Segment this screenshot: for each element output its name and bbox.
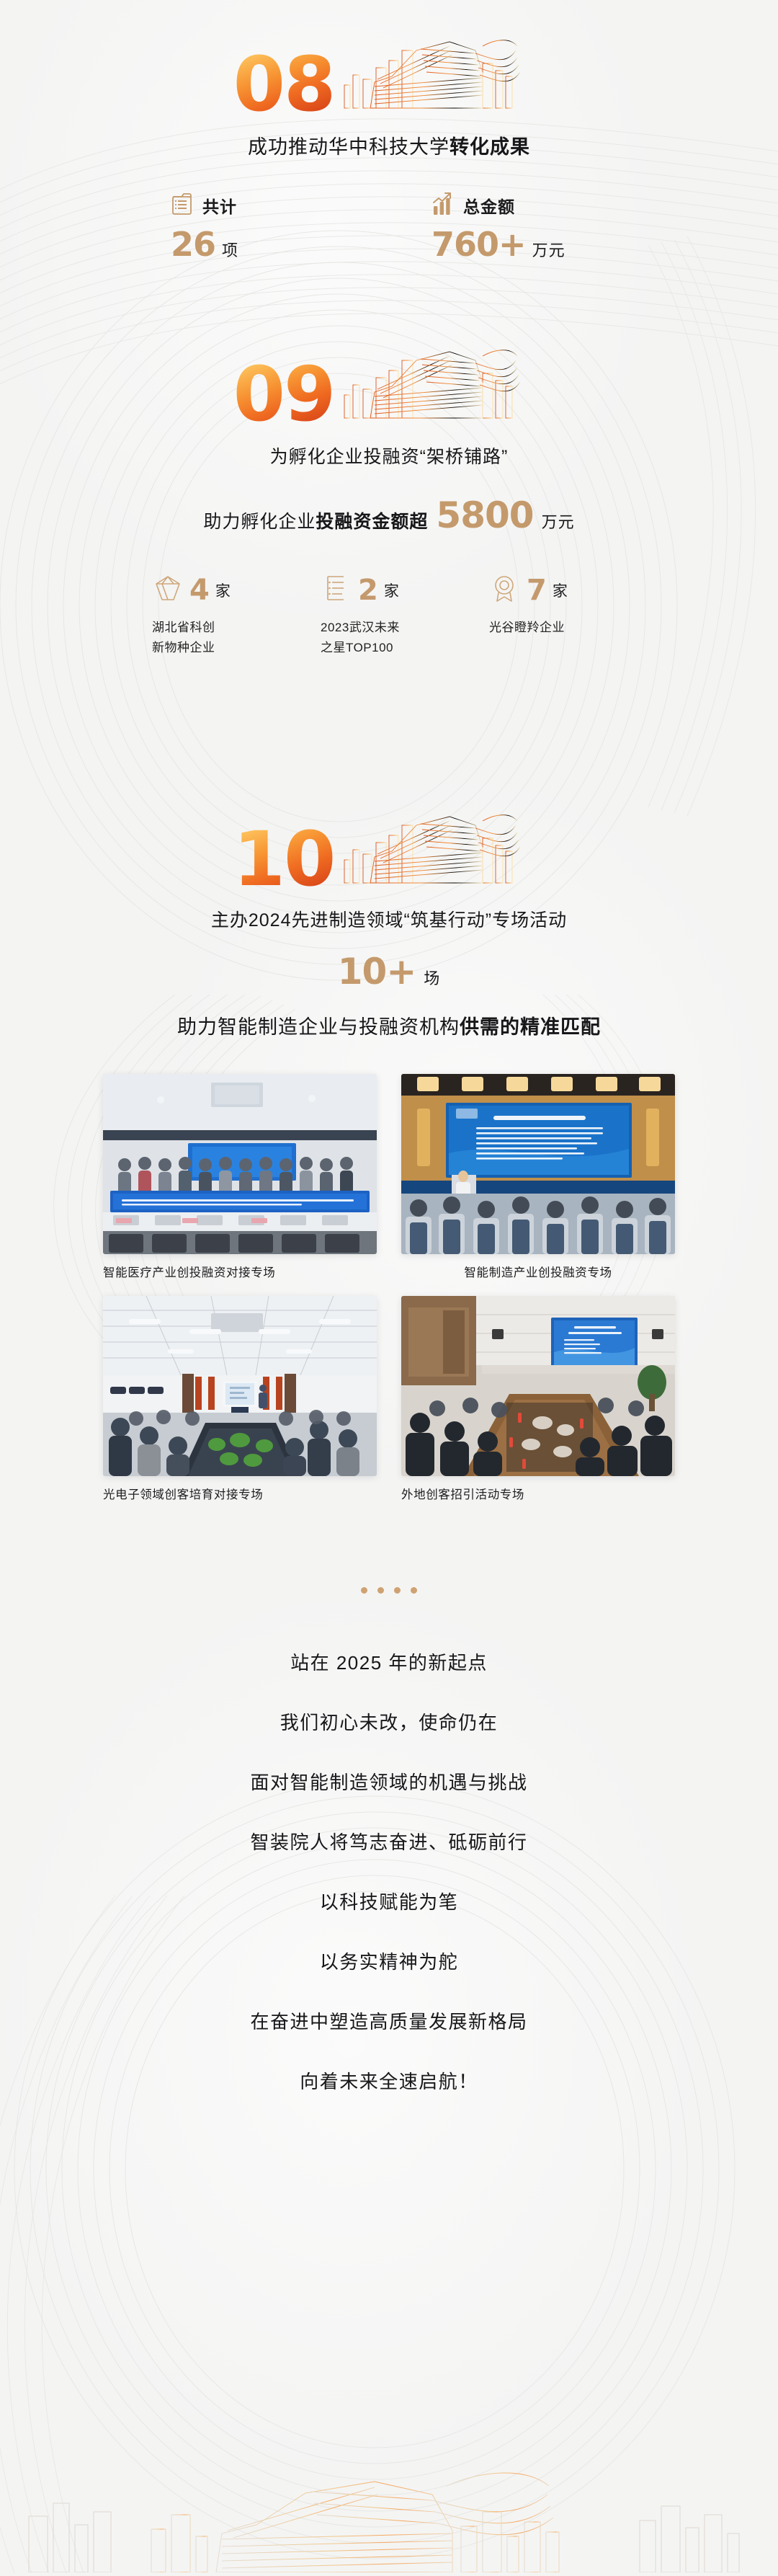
photo-caption: 外地创客招引活动专场 <box>401 1485 675 1502</box>
stat-gazelle-enterprises: 7 家 光谷瞪羚企业 <box>489 572 626 658</box>
infographic-page: 08 <box>0 0 778 2094</box>
photo-manufacturing-forum[interactable] <box>401 1074 675 1254</box>
divider-dot <box>361 1587 367 1594</box>
bar-chart-icon <box>432 191 455 220</box>
medal-icon <box>489 572 521 608</box>
stat-desc-line2: 新物种企业 <box>152 638 289 658</box>
photo-cell: 光电子领域创客培育对接专场 <box>103 1296 377 1502</box>
closing-section: 站在 2025 年的新起点 我们初心未改，使命仍在 面对智能制造领域的机遇与挑战… <box>0 1502 778 2094</box>
poem-line: 智装院人将笃志奋进、砥砺前行 <box>0 1828 778 1855</box>
divider-dot <box>394 1587 401 1594</box>
footer-skyline-illustration <box>0 2464 778 2572</box>
stat-desc-line2: 之星TOP100 <box>321 638 457 658</box>
stat-description: 2023武汉未来 之星TOP100 <box>321 618 457 658</box>
stat-unit: 万元 <box>532 238 565 261</box>
poem-line: 以科技赋能为笔 <box>0 1888 778 1914</box>
headline-bold-text: 转化成果 <box>450 136 530 158</box>
stat-description: 光谷瞪羚企业 <box>489 618 626 638</box>
poem-line: 以务实精神为舵 <box>0 1947 778 1974</box>
diamond-icon <box>152 572 184 608</box>
section-09-header: 09 <box>0 323 778 445</box>
stat-desc-line1: 2023武汉未来 <box>321 618 457 638</box>
poem-line: 我们初心未改，使命仍在 <box>0 1708 778 1735</box>
divider-dot <box>377 1587 384 1594</box>
stat-unit: 家 <box>553 579 568 601</box>
amount-unit: 万元 <box>542 510 575 533</box>
poem-line: 在奋进中塑造高质量发展新格局 <box>0 2007 778 2034</box>
photo-optoelectronics-training[interactable] <box>103 1296 377 1476</box>
section-10-subline: 助力智能制造企业与投融资机构供需的精准匹配 <box>0 1011 778 1039</box>
section-08-number: 08 <box>233 49 335 120</box>
section-09-amount: 助力孵化企业投融资金额超 5800 万元 <box>0 497 778 533</box>
section-09: 09 <box>0 261 778 658</box>
photo-cell: 智能制造产业创投融资专场 <box>401 1074 675 1280</box>
divider-dot <box>411 1587 417 1594</box>
amount-prefix-bold: 投融资金额超 <box>316 512 428 532</box>
amount-prefix-plain: 助力孵化企业 <box>203 512 316 532</box>
section-08-header: 08 <box>0 13 778 136</box>
stat-hubei-innovation: 4 家 湖北省科创 新物种企业 <box>152 572 289 658</box>
section-10-number: 10 <box>233 824 335 895</box>
poem-line: 站在 2025 年的新起点 <box>0 1648 778 1675</box>
stat-unit: 家 <box>215 579 231 601</box>
section-09-number: 09 <box>233 359 335 430</box>
stat-desc-line1: 湖北省科创 <box>152 618 289 638</box>
section-08: 08 <box>0 0 778 261</box>
stat-unit: 家 <box>384 579 400 601</box>
poem-line: 向着未来全速启航！ <box>0 2067 778 2094</box>
section-10-header: 10 <box>0 788 778 910</box>
subline-plain-text: 助力智能制造企业与投融资机构 <box>177 1016 460 1038</box>
stat-label: 共计 <box>202 193 237 218</box>
section-10-count: 10+ 场 <box>0 954 778 990</box>
photo-caption: 智能医疗产业创投融资对接专场 <box>103 1263 377 1280</box>
building-illustration-icon <box>341 804 522 892</box>
building-illustration-icon <box>341 339 522 427</box>
photo-grid: 智能医疗产业创投融资对接专场 <box>0 1074 778 1502</box>
stat-total-amount: 总金额 760+ 万元 <box>432 191 607 261</box>
stat-value: 2 <box>358 576 378 605</box>
section-09-stats: 4 家 湖北省科创 新物种企业 <box>0 572 778 658</box>
count-unit: 场 <box>424 966 440 989</box>
closing-poem: 站在 2025 年的新起点 我们初心未改，使命仍在 面对智能制造领域的机遇与挑战… <box>0 1648 778 2094</box>
photo-medical-forum[interactable] <box>103 1074 377 1254</box>
photo-caption: 光电子领域创客培育对接专场 <box>103 1485 377 1502</box>
poem-line: 面对智能制造领域的机遇与挑战 <box>0 1768 778 1795</box>
photo-caption: 智能制造产业创投融资专场 <box>401 1263 675 1280</box>
document-list-icon <box>171 191 194 220</box>
photo-cell: 外地创客招引活动专场 <box>401 1296 675 1502</box>
stat-wuhan-future-star: 2 家 2023武汉未来 之星TOP100 <box>321 572 457 658</box>
photo-external-recruitment[interactable] <box>401 1296 675 1476</box>
stat-description: 湖北省科创 新物种企业 <box>152 618 289 658</box>
stat-desc-line1: 光谷瞪羚企业 <box>489 618 626 638</box>
photo-cell: 智能医疗产业创投融资对接专场 <box>103 1074 377 1280</box>
stat-value: 4 <box>189 576 210 605</box>
stat-value: 7 <box>527 576 547 605</box>
ranking-icon <box>321 572 352 608</box>
amount-prefix: 助力孵化企业投融资金额超 <box>203 507 428 533</box>
stat-value: 760+ <box>432 228 526 261</box>
stat-label: 总金额 <box>463 193 515 218</box>
stat-value: 26 <box>171 228 215 261</box>
subline-bold-text: 供需的精准匹配 <box>460 1016 601 1038</box>
section-10: 10 <box>0 658 778 1502</box>
stat-total-items: 共计 26 项 <box>171 191 346 261</box>
headline-plain-text: 成功推动华中科技大学 <box>248 136 450 158</box>
section-09-headline: 为孵化企业投融资“架桥铺路” <box>0 443 778 468</box>
count-value: 10+ <box>338 954 416 990</box>
building-illustration-icon <box>341 29 522 117</box>
stat-unit: 项 <box>222 238 238 261</box>
amount-value: 5800 <box>436 497 533 533</box>
section-08-stats: 共计 26 项 <box>0 191 778 261</box>
dots-divider <box>0 1587 778 1594</box>
